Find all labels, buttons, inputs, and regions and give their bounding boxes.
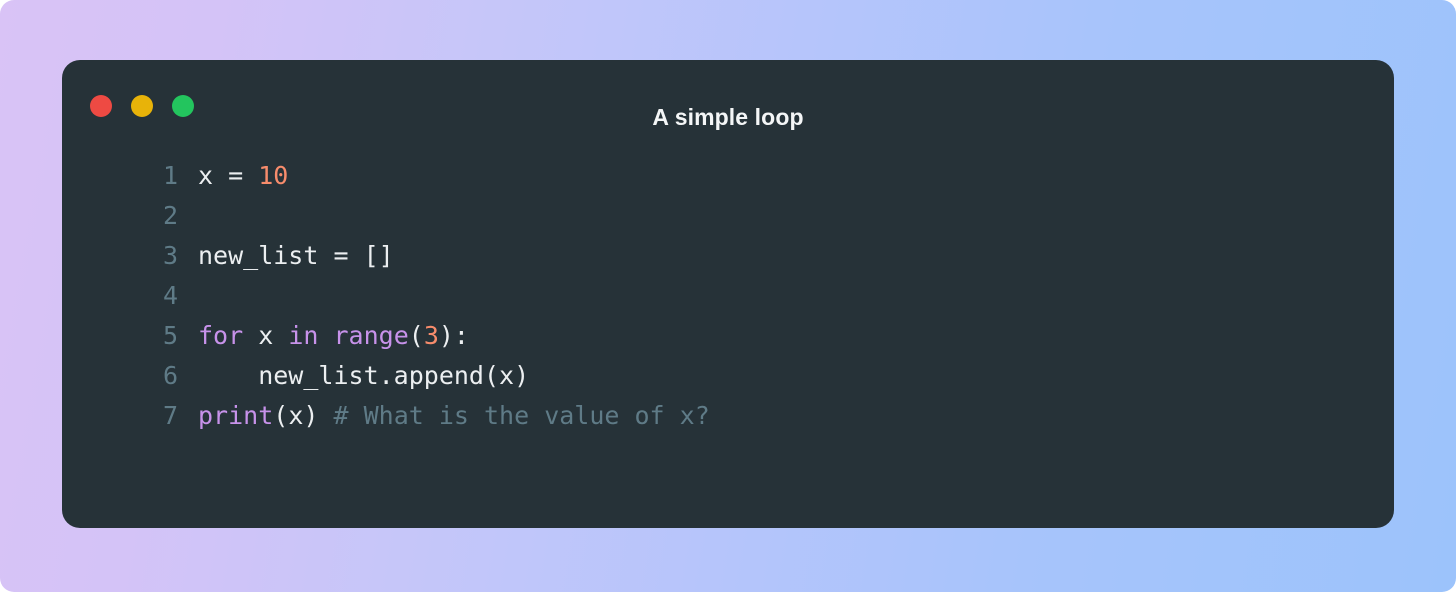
line-number: 3 (138, 236, 178, 276)
code-token-plain: new_list = [] (198, 241, 394, 270)
code-line: 7print(x) # What is the value of x? (138, 396, 1394, 436)
page-background: A simple loop 1x = 1023new_list = []45fo… (0, 0, 1456, 592)
code-token-punct: (x) (273, 401, 333, 430)
code-token-punct: ( (409, 321, 424, 350)
line-number: 7 (138, 396, 178, 436)
code-window: A simple loop 1x = 1023new_list = []45fo… (62, 60, 1394, 528)
code-token-plain: x (243, 321, 288, 350)
window-title: A simple loop (62, 104, 1394, 131)
code-line: 4 (138, 276, 1394, 316)
code-token-punct: ): (439, 321, 469, 350)
line-number: 1 (138, 156, 178, 196)
code-editor[interactable]: 1x = 1023new_list = []45for x in range(3… (62, 152, 1394, 436)
line-number: 6 (138, 356, 178, 396)
code-line: 3new_list = [] (138, 236, 1394, 276)
window-titlebar: A simple loop (62, 60, 1394, 152)
code-token-plain: new_list.append(x) (198, 361, 529, 390)
code-line: 6 new_list.append(x) (138, 356, 1394, 396)
code-token-num: 10 (258, 161, 288, 190)
code-token-fn: range (333, 321, 408, 350)
code-line: 1x = 10 (138, 156, 1394, 196)
code-line: 5for x in range(3): (138, 316, 1394, 356)
code-line: 2 (138, 196, 1394, 236)
code-token-kw: for (198, 321, 243, 350)
code-line-text: new_list = [] (178, 236, 394, 276)
line-number: 2 (138, 196, 178, 236)
code-token-plain: x (198, 161, 228, 190)
code-token-plain: = (228, 161, 258, 190)
code-token-num: 3 (424, 321, 439, 350)
line-number: 4 (138, 276, 178, 316)
code-token-fn: print (198, 401, 273, 430)
code-token-kw: in (288, 321, 318, 350)
line-number: 5 (138, 316, 178, 356)
code-line-text: x = 10 (178, 156, 288, 196)
code-line-text: print(x) # What is the value of x? (178, 396, 710, 436)
code-line-text: new_list.append(x) (178, 356, 529, 396)
code-token-plain (318, 321, 333, 350)
code-line-text: for x in range(3): (178, 316, 469, 356)
code-token-comment: # What is the value of x? (333, 401, 709, 430)
